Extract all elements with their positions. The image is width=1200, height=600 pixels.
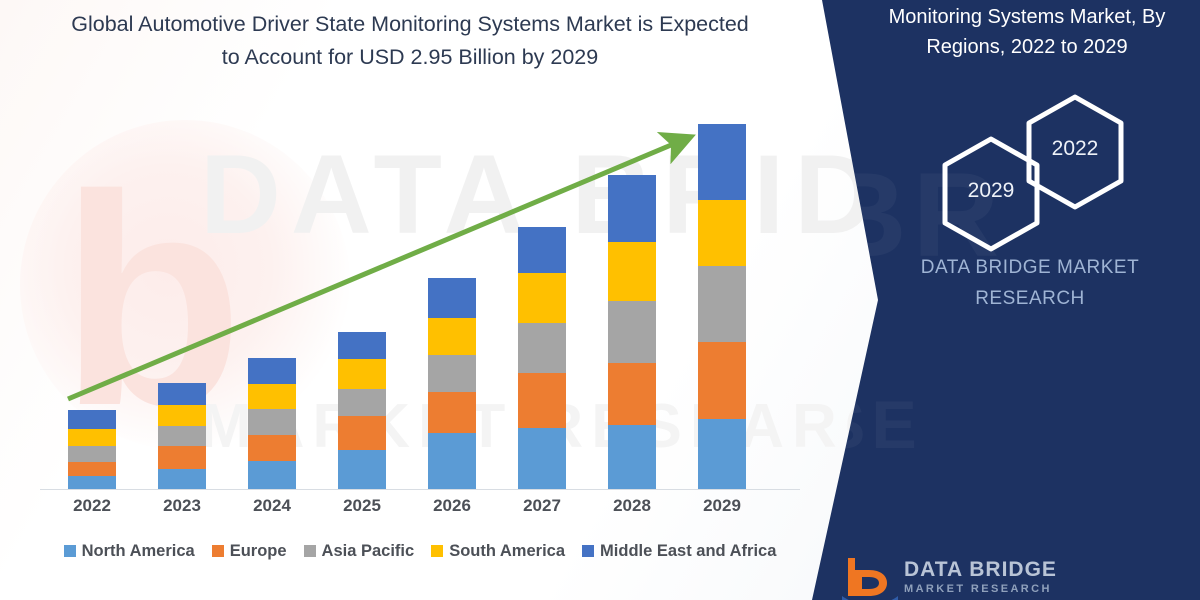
legend-swatch-icon	[64, 545, 76, 557]
x-label-2029: 2029	[677, 496, 767, 516]
chart-legend: North AmericaEuropeAsia PacificSouth Ame…	[40, 538, 800, 564]
legend-label: South America	[449, 542, 565, 561]
chart-panel: b DATA BRIDGE MARKET RESEARCH Global Aut…	[0, 0, 880, 600]
logo-mark-icon	[842, 556, 898, 600]
hexagon-group: 2022 2029	[900, 92, 1200, 232]
legend-swatch-icon	[212, 545, 224, 557]
x-axis-labels: 20222023202420252026202720282029	[40, 496, 800, 524]
bar-segment-2022-asia-pacific	[68, 446, 116, 462]
x-label-2027: 2027	[497, 496, 587, 516]
legend-swatch-icon	[304, 545, 316, 557]
navy-watermark-2: SE	[820, 350, 923, 500]
x-axis-line	[40, 489, 800, 490]
x-label-2024: 2024	[227, 496, 317, 516]
hexagon-2029-label: 2029	[936, 179, 1046, 203]
bar-segment-2028-north-america	[608, 425, 656, 489]
legend-swatch-icon	[582, 545, 594, 557]
bar-segment-2023-asia-pacific	[158, 426, 206, 446]
x-label-2022: 2022	[47, 496, 137, 516]
brand-line-2: RESEARCH	[880, 283, 1180, 314]
bar-segment-2022-south-america	[68, 429, 116, 446]
x-label-2025: 2025	[317, 496, 407, 516]
bar-segment-2026-north-america	[428, 433, 476, 489]
bar-segment-2025-north-america	[338, 450, 386, 489]
growth-arrow-icon	[40, 110, 720, 420]
bar-segment-2022-north-america	[68, 476, 116, 489]
infographic-canvas: b DATA BRIDGE MARKET RESEARCH Global Aut…	[0, 0, 1200, 600]
logo-subtitle: MARKET RESEARCH	[904, 583, 1052, 595]
hexagon-2029: 2029	[936, 134, 1046, 254]
legend-label: Middle East and Africa	[600, 542, 776, 561]
logo-name: DATA BRIDGE	[904, 558, 1057, 582]
bar-segment-2027-north-america	[518, 428, 566, 489]
legend-label: Asia Pacific	[322, 542, 415, 561]
brand-name: DATA BRIDGE MARKET RESEARCH	[880, 252, 1180, 314]
bar-segment-2023-north-america	[158, 469, 206, 489]
company-logo: DATA BRIDGE MARKET RESEARCH	[842, 556, 1182, 600]
bar-segment-2023-europe	[158, 446, 206, 469]
legend-label: Europe	[230, 542, 287, 561]
legend-item-south-america[interactable]: South America	[431, 542, 565, 561]
legend-item-middle-east-and-africa[interactable]: Middle East and Africa	[582, 542, 776, 561]
bar-segment-2024-europe	[248, 435, 296, 460]
panel-heading: Monitoring Systems Market, By Regions, 2…	[862, 2, 1192, 62]
legend-item-asia-pacific[interactable]: Asia Pacific	[304, 542, 415, 561]
x-label-2026: 2026	[407, 496, 497, 516]
bar-segment-2029-north-america	[698, 419, 746, 489]
legend-item-europe[interactable]: Europe	[212, 542, 287, 561]
legend-swatch-icon	[431, 545, 443, 557]
legend-label: North America	[82, 542, 195, 561]
x-label-2023: 2023	[137, 496, 227, 516]
bar-segment-2022-europe	[68, 462, 116, 477]
x-label-2028: 2028	[587, 496, 677, 516]
brand-line-1: DATA BRIDGE MARKET	[880, 252, 1180, 283]
bar-2022	[68, 410, 116, 489]
bar-segment-2024-north-america	[248, 461, 296, 489]
bar-segment-2025-europe	[338, 416, 386, 451]
page-title: Global Automotive Driver State Monitorin…	[60, 8, 760, 74]
legend-item-north-america[interactable]: North America	[64, 542, 195, 561]
